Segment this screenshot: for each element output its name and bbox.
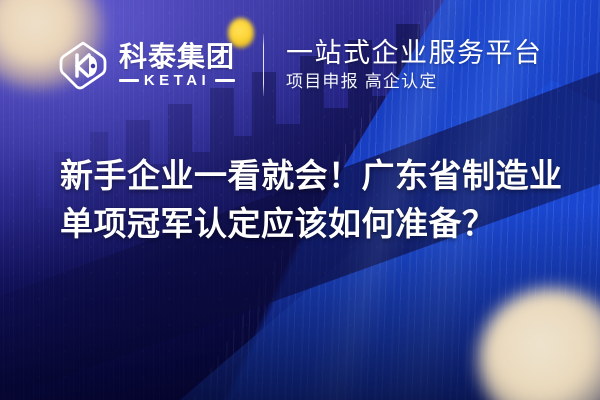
headline-line-2: 单项冠军认定应该如何准备？ xyxy=(60,200,560,248)
tagline-secondary: 项目申报 高企认定 xyxy=(286,73,543,90)
headline-line-1: 新手企业一看就会！广东省制造业 xyxy=(60,152,560,200)
banner-header: 科泰集团 KETAI 一站式企业服务平台 项目申报 高企认定 xyxy=(0,0,600,130)
brand-name-cn: 科泰集团 xyxy=(119,43,235,71)
tagline-primary: 一站式企业服务平台 xyxy=(286,40,543,67)
brand-logo: 科泰集团 KETAI xyxy=(58,40,235,90)
headline: 新手企业一看就会！广东省制造业 单项冠军认定应该如何准备？ xyxy=(60,152,560,248)
ketai-diamond-kt-monogram-icon xyxy=(58,40,108,90)
header-divider xyxy=(263,34,264,96)
brand-tagline: 一站式企业服务平台 项目申报 高企认定 xyxy=(286,40,543,90)
wordmark-rule-left xyxy=(119,79,139,82)
brand-name-en: KETAI xyxy=(144,73,210,88)
brand-name-en-row: KETAI xyxy=(119,73,235,88)
promo-banner: 科泰集团 KETAI 一站式企业服务平台 项目申报 高企认定 新手企业一看就会！… xyxy=(0,0,600,400)
brand-wordmark: 科泰集团 KETAI xyxy=(119,43,235,88)
wordmark-rule-right xyxy=(215,79,235,82)
